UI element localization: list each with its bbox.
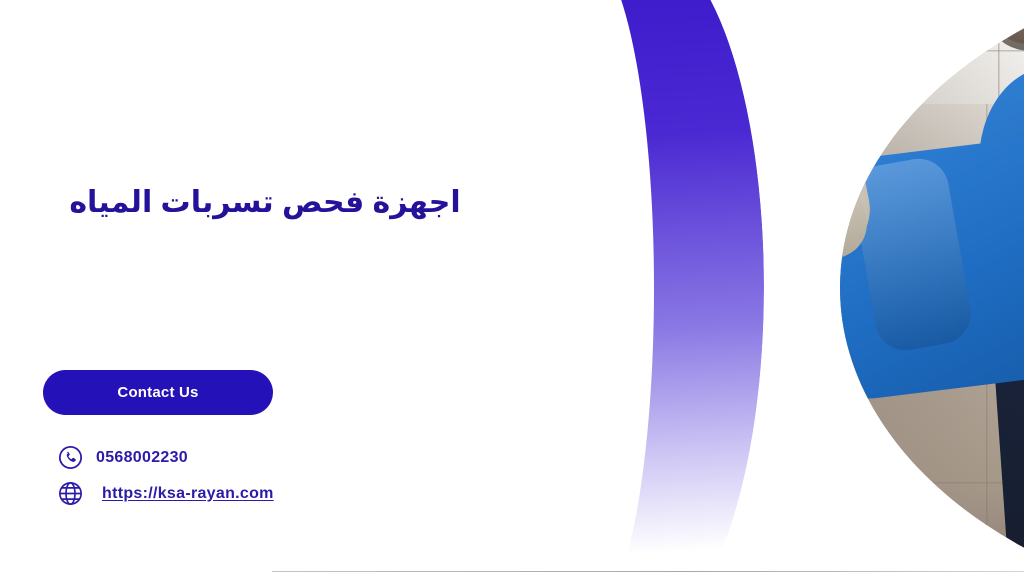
phone-number: 0568002230	[96, 449, 188, 467]
poster-canvas: اجهزة فحص تسربات المياه Contact Us 05680…	[0, 0, 1024, 577]
page-title: اجهزة فحص تسربات المياه	[40, 183, 490, 224]
website-contact-row[interactable]: https://ksa-rayan.com	[58, 481, 274, 506]
pipe-fitting-lower	[797, 35, 839, 78]
phone-contact-row[interactable]: 0568002230	[58, 445, 188, 470]
band-left-mask	[480, 0, 630, 577]
website-url[interactable]: https://ksa-rayan.com	[102, 485, 274, 503]
pipe-fitting-upper	[794, 0, 839, 38]
pipe-collar	[773, 0, 799, 34]
globe-icon	[58, 481, 83, 506]
bottom-divider	[272, 571, 1024, 572]
phone-icon	[58, 445, 83, 470]
contact-us-button[interactable]: Contact Us	[43, 370, 273, 415]
pipe-stem	[811, 76, 823, 116]
